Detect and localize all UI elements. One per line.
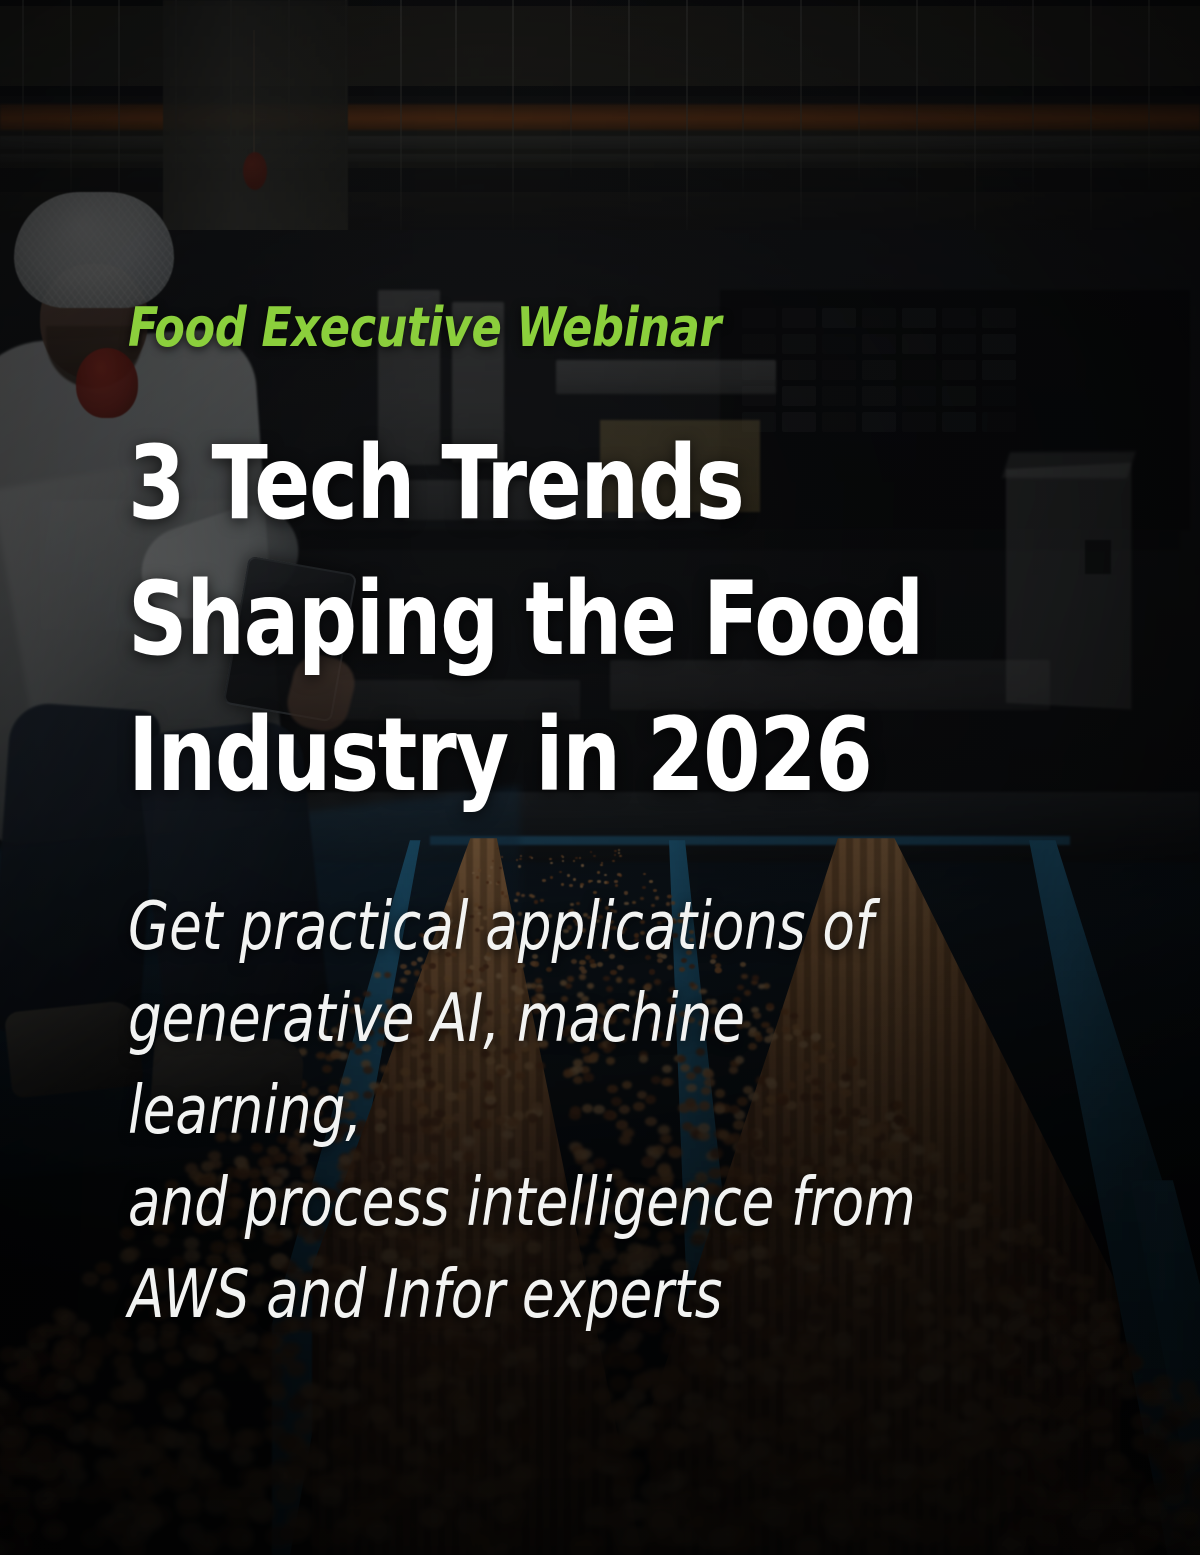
eyebrow-label: Food Executive Webinar — [128, 296, 985, 360]
poster-text-block: Food Executive Webinar 3 Tech Trends Sha… — [0, 0, 1200, 1555]
headline-line-1: 3 Tech Trends — [128, 424, 743, 543]
subtitle-line-4: AWS and Infor experts — [128, 1255, 722, 1333]
subtitle-line-2: generative AI, machine learning, — [128, 979, 745, 1149]
headline-line-2: Shaping the Food — [128, 560, 923, 679]
subtitle: Get practical applications of generative… — [128, 880, 948, 1340]
headline-line-3: Industry in 2026 — [128, 696, 872, 815]
webinar-promo-poster: Food Executive Webinar 3 Tech Trends Sha… — [0, 0, 1200, 1555]
page-title: 3 Tech Trends Shaping the Food Industry … — [128, 416, 967, 824]
subtitle-line-3: and process intelligence from — [128, 1163, 916, 1241]
subtitle-line-1: Get practical applications of — [128, 887, 873, 965]
